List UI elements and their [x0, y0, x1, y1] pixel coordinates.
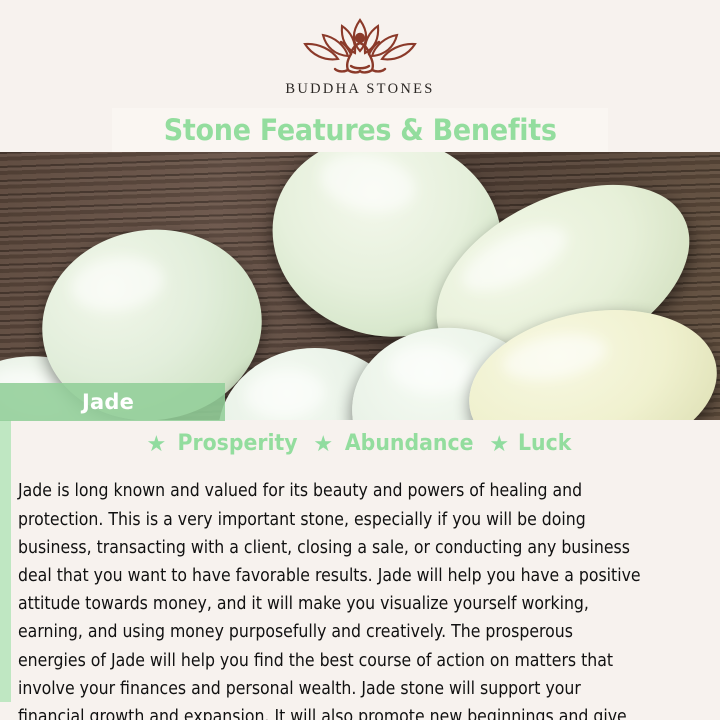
brand-logo: BUDDHA STONES: [230, 14, 490, 98]
stone-description: Jade is long known and valued for its be…: [18, 477, 642, 720]
stone-name: Jade: [82, 390, 134, 414]
brand-name: BUDDHA STONES: [230, 81, 490, 98]
benefit-label: Abundance: [345, 431, 474, 456]
stone-features-infographic: BUDDHA STONES Stone Features & Benefits …: [0, 0, 720, 720]
star-icon: ★: [147, 433, 167, 455]
title-banner: Stone Features & Benefits: [112, 108, 608, 152]
jade-stones-photo: [0, 152, 720, 420]
benefit-label: Luck: [518, 431, 571, 456]
benefit-label: Prosperity: [178, 431, 298, 456]
decorative-frame-left-lower: [0, 420, 11, 702]
star-icon: ★: [489, 433, 509, 455]
page-title: Stone Features & Benefits: [164, 113, 557, 147]
stone-name-banner: Jade: [0, 383, 225, 421]
benefit-item: ★ Prosperity: [147, 431, 303, 456]
lotus-meditation-icon: [285, 14, 435, 80]
star-icon: ★: [313, 433, 333, 455]
benefit-item: ★ Abundance: [313, 431, 478, 456]
benefit-item: ★ Luck: [489, 431, 573, 456]
benefits-row: ★ Prosperity ★ Abundance ★ Luck: [0, 431, 720, 456]
